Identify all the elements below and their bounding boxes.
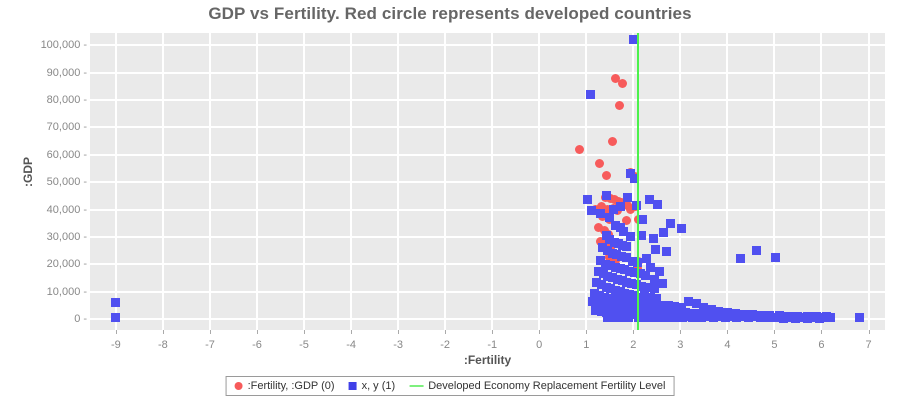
y-tick-label: 0- (74, 313, 87, 325)
x-tick-label: 2 (630, 339, 636, 351)
data-point (624, 313, 633, 322)
y-tick-label: 60,000- (47, 149, 87, 161)
data-point (653, 200, 662, 209)
data-point (666, 219, 675, 228)
x-tick-mark (680, 330, 681, 334)
x-tick-label: -4 (346, 339, 356, 351)
x-tick-mark (727, 330, 728, 334)
y-tick-label: 50,000- (47, 176, 87, 188)
gridline-horizontal (90, 44, 885, 46)
data-point (803, 312, 812, 321)
gridline-horizontal (90, 209, 885, 211)
x-tick-mark (774, 330, 775, 334)
data-point (775, 311, 784, 320)
gridline-horizontal (90, 99, 885, 101)
data-point (602, 191, 611, 200)
data-point (659, 228, 668, 237)
x-tick-label: -6 (252, 339, 262, 351)
data-point (646, 263, 655, 272)
legend-label: :Fertility, :GDP (0) (248, 380, 335, 392)
chart-legend: :Fertility, :GDP (0)x, y (1)Developed Ec… (226, 376, 675, 396)
data-point (618, 79, 627, 88)
scatter-chart: GDP vs Fertility. Red circle represents … (0, 0, 900, 400)
x-tick-mark (445, 330, 446, 334)
x-tick-label: 4 (724, 339, 730, 351)
x-tick-label: 1 (583, 339, 589, 351)
y-tick-label: 80,000- (47, 94, 87, 106)
data-point (855, 313, 864, 322)
legend-line-icon (409, 385, 423, 387)
data-point (793, 312, 802, 321)
data-point (752, 246, 761, 255)
x-tick-mark (210, 330, 211, 334)
y-axis-ticks: 0-10,000-20,000-30,000-40,000-50,000-60,… (0, 33, 87, 330)
x-tick-label: 7 (865, 339, 871, 351)
gridline-horizontal (90, 291, 885, 293)
x-tick-mark (116, 330, 117, 334)
data-point (688, 313, 697, 322)
data-point (669, 313, 678, 322)
x-axis-ticks: -9-8-7-6-5-4-3-2-101234567 (90, 330, 885, 354)
data-point (626, 232, 635, 241)
data-point (596, 209, 605, 218)
legend-item[interactable]: :Fertility, :GDP (0) (235, 380, 335, 392)
x-tick-label: 6 (818, 339, 824, 351)
data-point (622, 242, 631, 251)
data-point (638, 215, 647, 224)
x-tick-mark (398, 330, 399, 334)
gridline-horizontal (90, 72, 885, 74)
x-tick-label: -7 (205, 339, 215, 351)
y-tick-label: 70,000- (47, 121, 87, 133)
data-point (586, 90, 595, 99)
x-tick-mark (257, 330, 258, 334)
legend-label: x, y (1) (362, 380, 396, 392)
x-tick-mark (633, 330, 634, 334)
data-point (651, 245, 660, 254)
legend-circle-icon (235, 382, 243, 390)
x-tick-label: -1 (487, 339, 497, 351)
data-point (771, 253, 780, 262)
x-tick-mark (539, 330, 540, 334)
gridline-horizontal (90, 126, 885, 128)
x-tick-mark (492, 330, 493, 334)
data-point (697, 313, 706, 322)
legend-label: Developed Economy Replacement Fertility … (428, 380, 665, 392)
legend-item[interactable]: x, y (1) (349, 380, 396, 392)
x-tick-label: 0 (536, 339, 542, 351)
y-tick-label: 10,000- (47, 286, 87, 298)
data-point (822, 312, 831, 321)
data-point (641, 271, 650, 280)
data-point (678, 313, 687, 322)
y-tick-label: 30,000- (47, 231, 87, 243)
x-tick-label: -5 (299, 339, 309, 351)
data-point (662, 247, 671, 256)
data-point (608, 137, 617, 146)
plot-area (90, 33, 885, 330)
x-tick-label: 3 (677, 339, 683, 351)
x-tick-mark (163, 330, 164, 334)
gridline-horizontal (90, 154, 885, 156)
x-tick-mark (304, 330, 305, 334)
x-tick-label: -2 (440, 339, 450, 351)
y-tick-label: 40,000- (47, 204, 87, 216)
x-tick-mark (586, 330, 587, 334)
data-point (658, 279, 667, 288)
x-tick-label: -8 (158, 339, 168, 351)
data-point (595, 159, 604, 168)
data-point (583, 195, 592, 204)
data-point (736, 254, 745, 263)
y-tick-label: 20,000- (47, 258, 87, 270)
data-point (812, 312, 821, 321)
y-axis-label: :GDP (21, 132, 35, 212)
data-point (784, 312, 793, 321)
data-point (615, 101, 624, 110)
x-tick-label: -3 (393, 339, 403, 351)
data-point (111, 313, 120, 322)
gridline-horizontal (90, 236, 885, 238)
legend-square-icon (349, 382, 357, 390)
x-tick-mark (821, 330, 822, 334)
legend-item[interactable]: Developed Economy Replacement Fertility … (409, 380, 665, 392)
x-axis-label: :Fertility (90, 353, 885, 367)
data-point (111, 298, 120, 307)
y-tick-label: 90,000- (47, 67, 87, 79)
data-point (649, 234, 658, 243)
data-point (655, 267, 664, 276)
chart-title: GDP vs Fertility. Red circle represents … (0, 4, 900, 24)
x-tick-label: -9 (111, 339, 121, 351)
x-tick-mark (869, 330, 870, 334)
x-tick-label: 5 (771, 339, 777, 351)
x-tick-mark (351, 330, 352, 334)
data-point (602, 171, 611, 180)
data-point (575, 145, 584, 154)
gridline-horizontal (90, 181, 885, 183)
data-point (677, 224, 686, 233)
data-point (765, 311, 774, 320)
gridline-horizontal (90, 263, 885, 265)
replacement-fertility-line (637, 33, 639, 330)
y-tick-label: 100,000- (41, 39, 87, 51)
